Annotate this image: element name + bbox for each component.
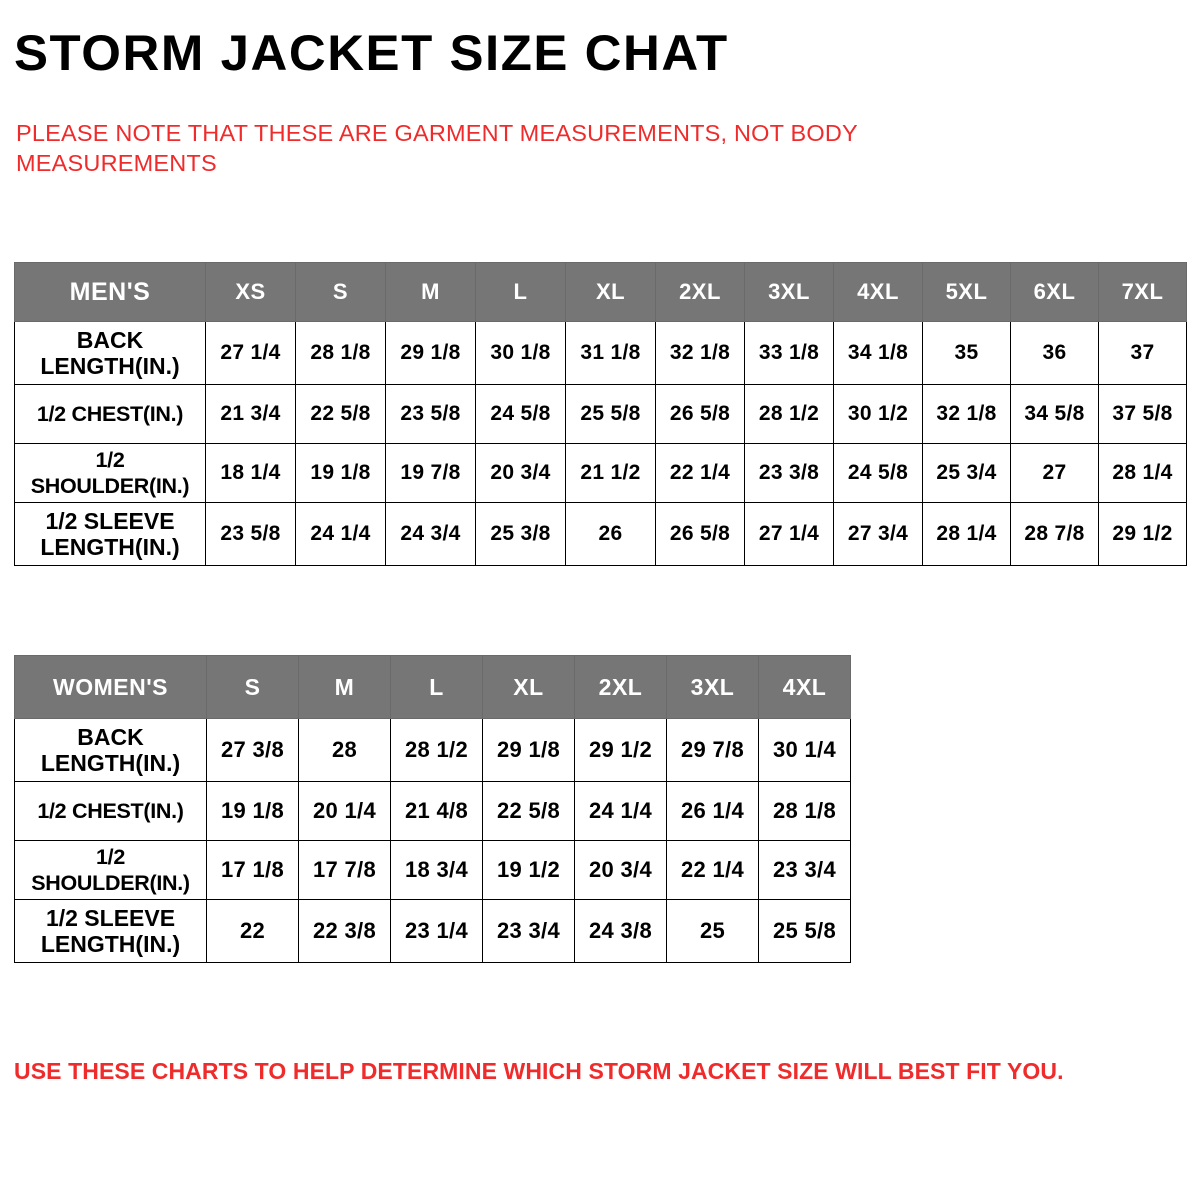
measurement-cell: 33 1/8 <box>745 322 834 385</box>
measurement-cell: 19 1/2 <box>483 841 575 900</box>
measurement-cell: 34 1/8 <box>834 322 923 385</box>
table-header-row: MEN'SXSSMLXL2XL3XL4XL5XL6XL7XL <box>15 263 1187 322</box>
womens-corner-header: WOMEN'S <box>15 656 207 719</box>
measurement-cell: 34 5/8 <box>1011 385 1099 444</box>
size-chart-page: STORM JACKET SIZE CHAT PLEASE NOTE THAT … <box>0 0 1200 1200</box>
column-header-2xl: 2XL <box>575 656 667 719</box>
mens-size-table: MEN'SXSSMLXL2XL3XL4XL5XL6XL7XL BACK LENG… <box>14 262 1187 566</box>
measurement-cell: 22 1/4 <box>656 444 745 503</box>
use-charts-note: USE THESE CHARTS TO HELP DETERMINE WHICH… <box>14 1057 1174 1085</box>
measurement-cell: 36 <box>1011 322 1099 385</box>
womens-table-header: WOMEN'SSMLXL2XL3XL4XL <box>15 656 851 719</box>
measurement-cell: 27 1/4 <box>206 322 296 385</box>
measurement-cell: 23 5/8 <box>386 385 476 444</box>
measurement-cell: 25 <box>667 900 759 963</box>
measurement-cell: 27 1/4 <box>745 503 834 566</box>
measurement-cell: 22 3/8 <box>299 900 391 963</box>
measurement-cell: 23 3/4 <box>483 900 575 963</box>
mens-table-header: MEN'SXSSMLXL2XL3XL4XL5XL6XL7XL <box>15 263 1187 322</box>
measurement-cell: 25 3/4 <box>923 444 1011 503</box>
row-label: 1/2 SHOULDER(IN.) <box>15 841 207 900</box>
table-row: 1/2 SHOULDER(IN.)17 1/817 7/818 3/419 1/… <box>15 841 851 900</box>
measurement-cell: 20 3/4 <box>476 444 566 503</box>
mens-corner-header: MEN'S <box>15 263 206 322</box>
measurement-cell: 24 5/8 <box>834 444 923 503</box>
measurement-cell: 25 3/8 <box>476 503 566 566</box>
womens-table-body: BACK LENGTH(IN.)27 3/82828 1/229 1/829 1… <box>15 719 851 963</box>
measurement-cell: 21 1/2 <box>566 444 656 503</box>
column-header-s: S <box>207 656 299 719</box>
measurement-cell: 26 5/8 <box>656 385 745 444</box>
row-label: 1/2 SLEEVE LENGTH(IN.) <box>15 503 206 566</box>
womens-size-table: WOMEN'SSMLXL2XL3XL4XL BACK LENGTH(IN.)27… <box>14 655 851 963</box>
measurement-cell: 32 1/8 <box>923 385 1011 444</box>
column-header-m: M <box>299 656 391 719</box>
column-header-xl: XL <box>483 656 575 719</box>
measurement-cell: 28 1/8 <box>296 322 386 385</box>
measurement-cell: 28 1/4 <box>923 503 1011 566</box>
column-header-s: S <box>296 263 386 322</box>
measurement-cell: 29 7/8 <box>667 719 759 782</box>
measurement-cell: 28 1/4 <box>1099 444 1187 503</box>
measurement-cell: 23 3/4 <box>759 841 851 900</box>
measurement-cell: 24 3/8 <box>575 900 667 963</box>
measurement-cell: 31 1/8 <box>566 322 656 385</box>
measurement-cell: 26 5/8 <box>656 503 745 566</box>
measurement-cell: 26 1/4 <box>667 782 759 841</box>
column-header-4xl: 4XL <box>759 656 851 719</box>
measurement-cell: 24 1/4 <box>296 503 386 566</box>
measurement-cell: 29 1/2 <box>575 719 667 782</box>
column-header-5xl: 5XL <box>923 263 1011 322</box>
row-label: 1/2 SHOULDER(IN.) <box>15 444 206 503</box>
measurement-cell: 24 1/4 <box>575 782 667 841</box>
measurement-cell: 29 1/8 <box>386 322 476 385</box>
table-row: 1/2 SLEEVE LENGTH(IN.)23 5/824 1/424 3/4… <box>15 503 1187 566</box>
row-label: 1/2 CHEST(IN.) <box>15 385 206 444</box>
table-row: BACK LENGTH(IN.)27 1/428 1/829 1/830 1/8… <box>15 322 1187 385</box>
measurement-cell: 22 5/8 <box>483 782 575 841</box>
measurement-cell: 28 7/8 <box>1011 503 1099 566</box>
measurement-cell: 22 <box>207 900 299 963</box>
column-header-m: M <box>386 263 476 322</box>
measurement-cell: 29 1/8 <box>483 719 575 782</box>
measurement-cell: 27 <box>1011 444 1099 503</box>
measurement-cell: 27 3/8 <box>207 719 299 782</box>
measurement-cell: 22 5/8 <box>296 385 386 444</box>
measurement-cell: 32 1/8 <box>656 322 745 385</box>
measurement-cell: 20 3/4 <box>575 841 667 900</box>
measurement-cell: 19 1/8 <box>207 782 299 841</box>
garment-measurement-note: PLEASE NOTE THAT THESE ARE GARMENT MEASU… <box>16 118 966 178</box>
measurement-cell: 25 5/8 <box>759 900 851 963</box>
measurement-cell: 21 4/8 <box>391 782 483 841</box>
measurement-cell: 17 7/8 <box>299 841 391 900</box>
column-header-3xl: 3XL <box>745 263 834 322</box>
measurement-cell: 18 1/4 <box>206 444 296 503</box>
column-header-xs: XS <box>206 263 296 322</box>
column-header-xl: XL <box>566 263 656 322</box>
column-header-4xl: 4XL <box>834 263 923 322</box>
measurement-cell: 30 1/4 <box>759 719 851 782</box>
column-header-3xl: 3XL <box>667 656 759 719</box>
measurement-cell: 19 7/8 <box>386 444 476 503</box>
measurement-cell: 28 <box>299 719 391 782</box>
column-header-7xl: 7XL <box>1099 263 1187 322</box>
row-label: BACK LENGTH(IN.) <box>15 719 207 782</box>
measurement-cell: 21 3/4 <box>206 385 296 444</box>
measurement-cell: 37 5/8 <box>1099 385 1187 444</box>
measurement-cell: 35 <box>923 322 1011 385</box>
table-row: 1/2 CHEST(IN.)21 3/422 5/823 5/824 5/825… <box>15 385 1187 444</box>
measurement-cell: 30 1/8 <box>476 322 566 385</box>
measurement-cell: 24 5/8 <box>476 385 566 444</box>
measurement-cell: 17 1/8 <box>207 841 299 900</box>
measurement-cell: 24 3/4 <box>386 503 476 566</box>
measurement-cell: 28 1/2 <box>745 385 834 444</box>
table-row: BACK LENGTH(IN.)27 3/82828 1/229 1/829 1… <box>15 719 851 782</box>
row-label: 1/2 CHEST(IN.) <box>15 782 207 841</box>
measurement-cell: 30 1/2 <box>834 385 923 444</box>
measurement-cell: 28 1/2 <box>391 719 483 782</box>
column-header-l: L <box>476 263 566 322</box>
measurement-cell: 20 1/4 <box>299 782 391 841</box>
measurement-cell: 23 3/8 <box>745 444 834 503</box>
row-label: BACK LENGTH(IN.) <box>15 322 206 385</box>
measurement-cell: 26 <box>566 503 656 566</box>
measurement-cell: 29 1/2 <box>1099 503 1187 566</box>
measurement-cell: 23 5/8 <box>206 503 296 566</box>
table-row: 1/2 CHEST(IN.)19 1/820 1/421 4/822 5/824… <box>15 782 851 841</box>
measurement-cell: 22 1/4 <box>667 841 759 900</box>
column-header-6xl: 6XL <box>1011 263 1099 322</box>
measurement-cell: 18 3/4 <box>391 841 483 900</box>
measurement-cell: 23 1/4 <box>391 900 483 963</box>
page-title: STORM JACKET SIZE CHAT <box>14 24 729 82</box>
measurement-cell: 27 3/4 <box>834 503 923 566</box>
measurement-cell: 25 5/8 <box>566 385 656 444</box>
column-header-l: L <box>391 656 483 719</box>
measurement-cell: 37 <box>1099 322 1187 385</box>
measurement-cell: 19 1/8 <box>296 444 386 503</box>
table-row: 1/2 SLEEVE LENGTH(IN.)2222 3/823 1/423 3… <box>15 900 851 963</box>
table-row: 1/2 SHOULDER(IN.)18 1/419 1/819 7/820 3/… <box>15 444 1187 503</box>
table-header-row: WOMEN'SSMLXL2XL3XL4XL <box>15 656 851 719</box>
mens-table-body: BACK LENGTH(IN.)27 1/428 1/829 1/830 1/8… <box>15 322 1187 566</box>
column-header-2xl: 2XL <box>656 263 745 322</box>
measurement-cell: 28 1/8 <box>759 782 851 841</box>
row-label: 1/2 SLEEVE LENGTH(IN.) <box>15 900 207 963</box>
